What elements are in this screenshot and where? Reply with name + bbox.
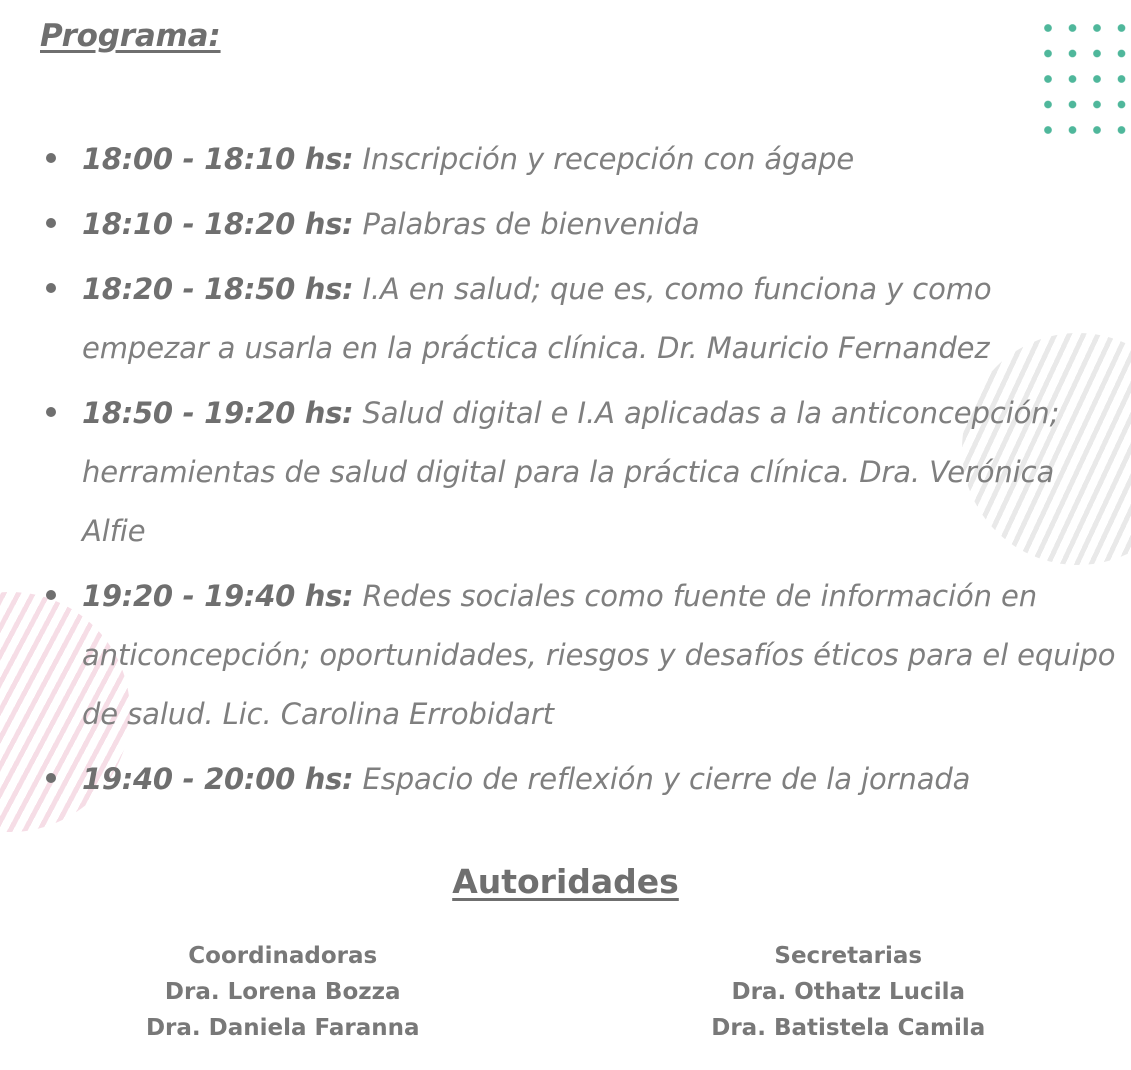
program-list-item: 19:20 - 19:40 hs: Redes sociales como fu…: [34, 567, 1119, 744]
bullet-icon: [46, 407, 56, 417]
bullet-icon: [46, 218, 56, 228]
authorities-column-coordinadoras: Coordinadoras Dra. Lorena Bozza Dra. Dan…: [0, 938, 566, 1046]
program-list-item: 19:40 - 20:00 hs: Espacio de reflexión y…: [34, 750, 1119, 809]
program-item-time: 18:20 - 18:50 hs:: [82, 272, 353, 306]
program-item-description: Palabras de bienvenida: [353, 207, 699, 241]
program-list-item: 18:00 - 18:10 hs: Inscripción y recepció…: [34, 130, 1119, 189]
authorities-person: Dra. Daniela Faranna: [0, 1010, 566, 1046]
program-item-description: Inscripción y recepción con ágape: [353, 142, 854, 176]
authorities-heading: Autoridades: [0, 862, 1131, 901]
program-item-time: 19:40 - 20:00 hs:: [82, 762, 353, 796]
bullet-icon: [46, 590, 56, 600]
bullet-icon: [46, 153, 56, 163]
program-list-item: 18:50 - 19:20 hs: Salud digital e I.A ap…: [34, 384, 1119, 561]
program-item-description: Espacio de reflexión y cierre de la jorn…: [353, 762, 970, 796]
authorities-column-secretarias: Secretarias Dra. Othatz Lucila Dra. Bati…: [566, 938, 1131, 1046]
authorities-role-label: Secretarias: [566, 938, 1131, 974]
program-title: Programa:: [40, 18, 221, 54]
program-item-time: 18:00 - 18:10 hs:: [82, 142, 353, 176]
program-item-time: 18:10 - 18:20 hs:: [82, 207, 353, 241]
program-item-time: 19:20 - 19:40 hs:: [82, 579, 353, 613]
program-slide: Programa: 18:00 - 18:10 hs: Inscripción …: [0, 0, 1131, 1070]
authorities-columns: Coordinadoras Dra. Lorena Bozza Dra. Dan…: [0, 938, 1131, 1046]
program-list-item: 18:10 - 18:20 hs: Palabras de bienvenida: [34, 195, 1119, 254]
dot-grid-decoration: [1044, 24, 1131, 146]
authorities-person: Dra. Batistela Camila: [566, 1010, 1131, 1046]
program-list-item: 18:20 - 18:50 hs: I.A en salud; que es, …: [34, 260, 1119, 378]
program-item-time: 18:50 - 19:20 hs:: [82, 396, 353, 430]
program-list: 18:00 - 18:10 hs: Inscripción y recepció…: [34, 130, 1119, 815]
bullet-icon: [46, 773, 56, 783]
authorities-person: Dra. Lorena Bozza: [0, 974, 566, 1010]
bullet-icon: [46, 283, 56, 293]
authorities-role-label: Coordinadoras: [0, 938, 566, 974]
authorities-person: Dra. Othatz Lucila: [566, 974, 1131, 1010]
